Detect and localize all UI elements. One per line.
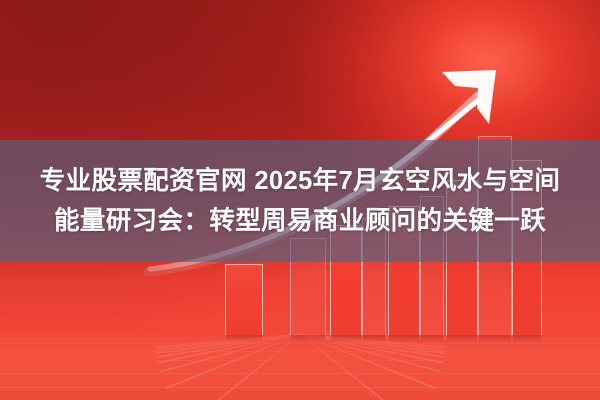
chart-bar-shadow bbox=[363, 335, 385, 342]
page-title-line-2: 能量研习会：转型周易商业顾问的关键一跃 bbox=[54, 202, 546, 241]
page-title-line-1: 专业股票配资官网 2025年7月玄空风水与空间 bbox=[40, 162, 561, 201]
chart-bar-shadow bbox=[421, 335, 443, 342]
chart-bar-shadow bbox=[479, 335, 511, 342]
chart-bar-shadow bbox=[226, 335, 262, 342]
chart-bar-shadow bbox=[331, 335, 361, 342]
chart-bar-shadow bbox=[291, 335, 325, 342]
chart-bar-shadow bbox=[389, 335, 419, 342]
chart-bar-shadow bbox=[513, 335, 541, 342]
chart-bar bbox=[225, 264, 263, 335]
banner-image: 专业股票配资官网 2025年7月玄空风水与空间 能量研习会：转型周易商业顾问的关… bbox=[0, 0, 600, 400]
chart-bar-shadow bbox=[447, 335, 477, 342]
title-band: 专业股票配资官网 2025年7月玄空风水与空间 能量研习会：转型周易商业顾问的关… bbox=[0, 140, 600, 262]
